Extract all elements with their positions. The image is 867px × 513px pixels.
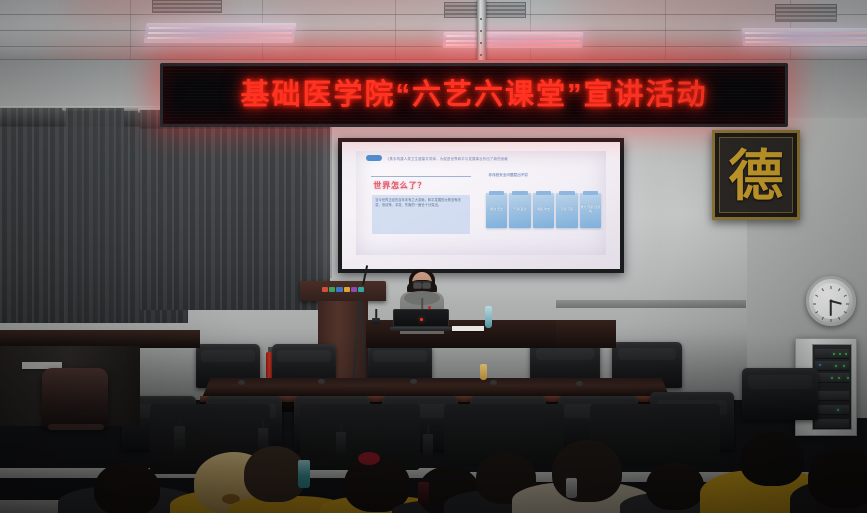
water-bottle	[298, 460, 310, 488]
water-bottle	[566, 478, 577, 498]
audience-head	[646, 462, 704, 510]
slide-body-text: 当今世界正经历百年未有之大变局，和平发展的大势没有改变，但动荡、冲突、失衡的一面…	[372, 195, 470, 235]
slide-card-label: 粮食 安全	[490, 208, 503, 212]
slide-header-text: 《携手构建人类卫生健康共同体，为促进世界和平与发展事业作出了新的贡献	[386, 156, 508, 161]
clock-face	[813, 283, 849, 319]
slide-card-label: 气候 变化	[514, 208, 527, 212]
presentation-slide: 《携手构建人类卫生健康共同体，为促进世界和平与发展事业作出了新的贡献 世界怎么了…	[356, 151, 606, 255]
slide-card-label: 重大 传染 性疾病	[580, 206, 601, 214]
photo-scene: 《携手构建人类卫生健康共同体，为促进世界和平与发展事业作出了新的贡献 世界怎么了…	[0, 0, 867, 513]
led-banner-text: 基础医学院“六艺六课堂”宣讲活动	[240, 81, 707, 110]
audience-head	[740, 432, 804, 486]
slide-card: 重大 传染 性疾病	[580, 193, 601, 228]
slide-card-label: 环境 污染	[561, 208, 574, 212]
water-bottle	[480, 364, 487, 380]
slide-card: 气候 变化	[509, 193, 530, 228]
slide-card: 粮食 安全	[486, 193, 507, 228]
window-curtain[interactable]	[140, 110, 330, 310]
projection-screen-frame: 《携手构建人类卫生健康共同体，为促进世界和平与发展事业作出了新的贡献 世界怎么了…	[338, 138, 624, 273]
audience-area	[0, 404, 867, 513]
slide-title-rule	[371, 176, 471, 177]
audience-microphone	[423, 434, 433, 458]
table-microphone	[576, 381, 583, 386]
hair-tie	[358, 452, 380, 465]
calligraphy-plaque: 德	[712, 130, 800, 220]
clock-center-pin	[830, 300, 833, 303]
audience-head	[244, 446, 306, 502]
slide-header: 《携手构建人类卫生健康共同体，为促进世界和平与发展事业作出了新的贡献	[366, 154, 596, 163]
wall-cabinet	[556, 300, 746, 308]
head-table-panel	[556, 320, 616, 348]
table-microphone	[318, 379, 325, 384]
slide-header-tab-icon	[366, 155, 382, 161]
paper-document	[452, 326, 484, 331]
audience-microphone	[174, 426, 185, 456]
window-curtain[interactable]	[66, 108, 124, 323]
slide-card-group: 粮食 安全 气候 变化 网络 攻击 环境 污染 重大 传染 性疾病	[486, 193, 601, 228]
projection-screen: 《携手构建人类卫生健康共同体，为促进世界和平与发展事业作出了新的贡献 世界怎么了…	[342, 142, 620, 269]
slide-card: 环境 污染	[556, 193, 577, 228]
ceiling-light-panel	[143, 23, 296, 43]
table-microphone	[490, 380, 497, 385]
slide-card-label: 网络 攻击	[537, 208, 550, 212]
wall-seam	[330, 108, 332, 278]
ceiling-light-panel	[741, 28, 867, 46]
audience-head	[808, 448, 867, 508]
plaque-character: 德	[728, 148, 783, 203]
table-microphone	[410, 379, 417, 384]
led-banner: 基础医学院“六艺六课堂”宣讲活动	[160, 63, 788, 127]
glasses-icon	[413, 281, 431, 287]
laptop-lid	[393, 309, 449, 327]
wall-clock	[806, 276, 856, 326]
laptop-logo-icon	[420, 318, 423, 321]
table-microphone	[372, 318, 380, 324]
clock-minute-hand	[830, 301, 832, 316]
podium-logo	[322, 287, 364, 292]
slide-cards-title: 非传统安全问题层出不穷	[488, 173, 528, 178]
slide-card: 网络 攻击	[533, 193, 554, 228]
water-bottle	[485, 306, 492, 328]
laptop-base	[390, 327, 452, 331]
audience-head	[552, 440, 622, 502]
table-microphone	[238, 380, 245, 385]
audience-microphone	[336, 432, 346, 458]
podium-top	[300, 281, 386, 301]
slide-title: 世界怎么了？	[373, 180, 426, 191]
water-bottle	[418, 482, 429, 504]
laptop[interactable]	[393, 309, 449, 331]
audience-head	[94, 462, 160, 513]
